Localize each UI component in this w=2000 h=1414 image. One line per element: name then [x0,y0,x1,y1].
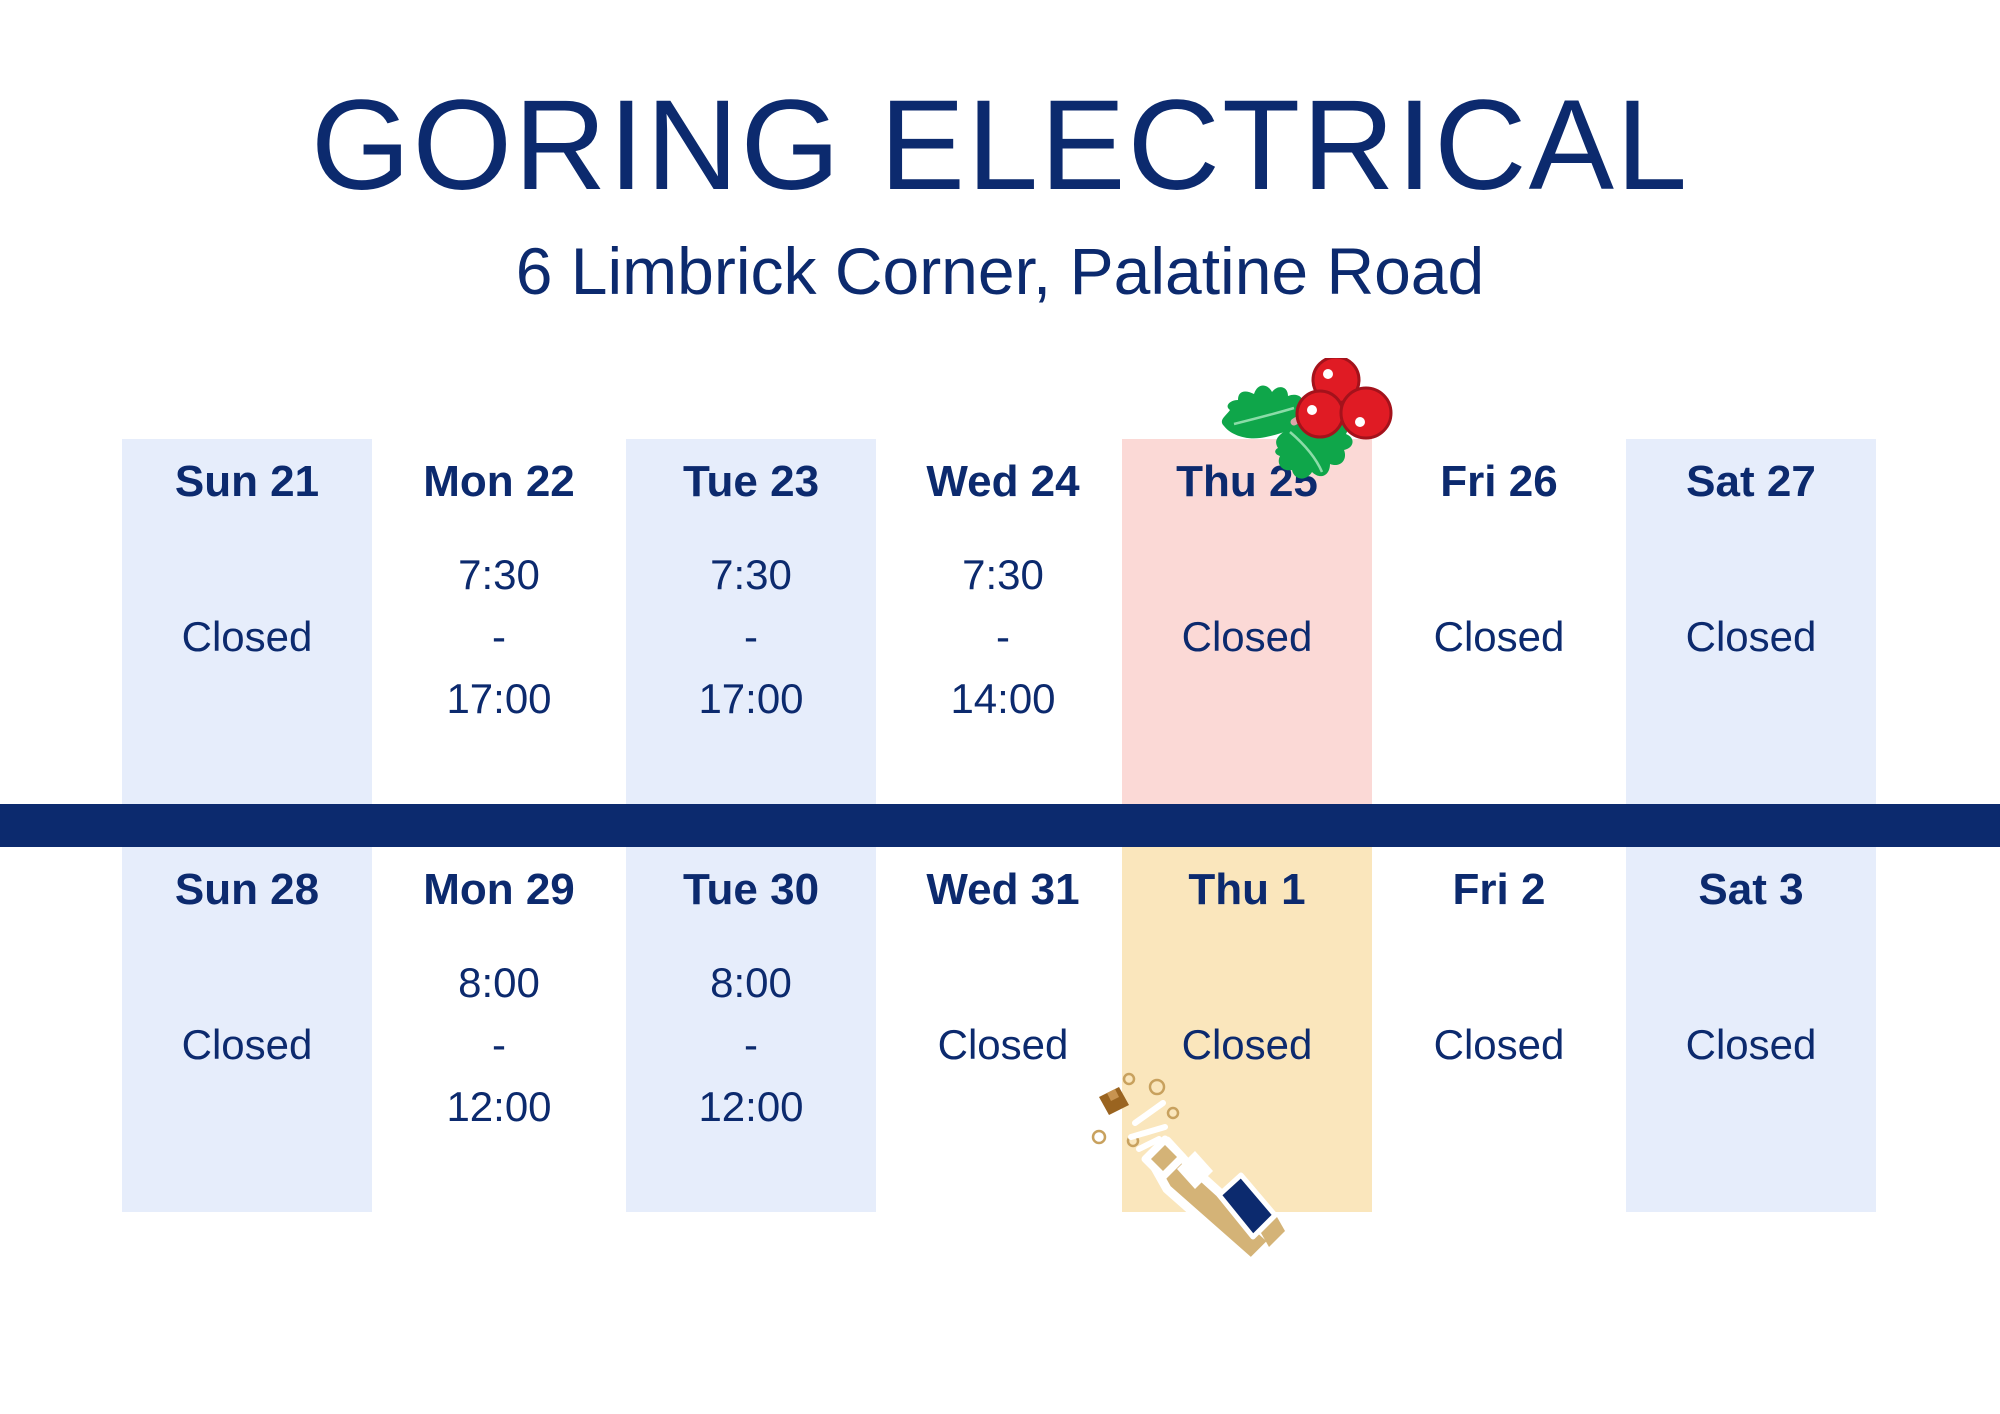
day-label-thu-1: Thu 1 [1122,865,1372,915]
hours-wed-31: Closed [878,1014,1128,1076]
hours-thu-25: Closed [1122,606,1372,668]
hours-line: 7:30 [626,544,876,606]
hours-line: 17:00 [626,668,876,730]
calendar-cell-sat-3[interactable]: Sat 3Closed [1626,847,1876,1212]
cell-content-sun-28: Sun 28Closed [122,847,372,1212]
calendar-cell-wed-24[interactable]: Wed 247:30-14:00 [878,439,1128,804]
hours-line: Closed [1374,1014,1624,1076]
hours-mon-22: 7:30-17:00 [374,544,624,730]
hours-line: Closed [878,1014,1128,1076]
calendar-cell-thu-1[interactable]: Thu 1Closed [1122,847,1372,1212]
calendar-cell-mon-22[interactable]: Mon 227:30-17:00 [374,439,624,804]
cell-content-sat-3: Sat 3Closed [1626,847,1876,1212]
calendar-cell-sun-21[interactable]: Sun 21Closed [122,439,372,804]
hours-line: 14:00 [878,668,1128,730]
hours-line: - [878,606,1128,668]
calendar-cell-thu-25[interactable]: Thu 25Closed [1122,439,1372,804]
hours-line: Closed [1122,1014,1372,1076]
hours-line: Closed [122,1014,372,1076]
hours-fri-26: Closed [1374,606,1624,668]
hours-thu-1: Closed [1122,1014,1372,1076]
hours-line: 8:00 [626,952,876,1014]
hours-line: 7:30 [374,544,624,606]
cell-content-sun-21: Sun 21Closed [122,439,372,804]
cell-content-thu-25: Thu 25Closed [1122,439,1372,804]
cell-content-tue-23: Tue 237:30-17:00 [626,439,876,804]
hours-line: Closed [1626,1014,1876,1076]
cell-content-mon-29: Mon 298:00-12:00 [374,847,624,1212]
cell-content-tue-30: Tue 308:00-12:00 [626,847,876,1212]
cell-content-mon-22: Mon 227:30-17:00 [374,439,624,804]
day-label-tue-30: Tue 30 [626,865,876,915]
day-label-sat-3: Sat 3 [1626,865,1876,915]
cell-content-sat-27: Sat 27Closed [1626,439,1876,804]
hours-line: Closed [1374,606,1624,668]
hours-fri-2: Closed [1374,1014,1624,1076]
day-label-fri-26: Fri 26 [1374,457,1624,507]
calendar-cell-mon-29[interactable]: Mon 298:00-12:00 [374,847,624,1212]
hours-line: 7:30 [878,544,1128,606]
day-label-sun-28: Sun 28 [122,865,372,915]
hours-sat-27: Closed [1626,606,1876,668]
day-label-mon-29: Mon 29 [374,865,624,915]
hours-line: 12:00 [626,1076,876,1138]
hours-line: - [626,1014,876,1076]
cell-content-fri-2: Fri 2Closed [1374,847,1624,1212]
calendar-cell-sat-27[interactable]: Sat 27Closed [1626,439,1876,804]
hours-line: 17:00 [374,668,624,730]
hours-tue-30: 8:00-12:00 [626,952,876,1138]
cell-content-wed-31: Wed 31Closed [878,847,1128,1212]
day-label-thu-25: Thu 25 [1122,457,1372,507]
day-label-wed-31: Wed 31 [878,865,1128,915]
hours-sun-28: Closed [122,1014,372,1076]
hours-sun-21: Closed [122,606,372,668]
cell-content-thu-1: Thu 1Closed [1122,847,1372,1212]
calendar-cell-tue-23[interactable]: Tue 237:30-17:00 [626,439,876,804]
day-label-tue-23: Tue 23 [626,457,876,507]
day-label-sun-21: Sun 21 [122,457,372,507]
cell-content-wed-24: Wed 247:30-14:00 [878,439,1128,804]
hours-sat-3: Closed [1626,1014,1876,1076]
calendar-cell-fri-2[interactable]: Fri 2Closed [1374,847,1624,1212]
week-divider [0,804,2000,847]
day-label-fri-2: Fri 2 [1374,865,1624,915]
calendar-cell-tue-30[interactable]: Tue 308:00-12:00 [626,847,876,1212]
hours-line: - [626,606,876,668]
day-label-mon-22: Mon 22 [374,457,624,507]
hours-line: - [374,606,624,668]
calendar-cell-fri-26[interactable]: Fri 26Closed [1374,439,1624,804]
hours-line: 8:00 [374,952,624,1014]
day-label-wed-24: Wed 24 [878,457,1128,507]
calendar-cell-wed-31[interactable]: Wed 31Closed [878,847,1128,1212]
cell-content-fri-26: Fri 26Closed [1374,439,1624,804]
hours-mon-29: 8:00-12:00 [374,952,624,1138]
hours-tue-23: 7:30-17:00 [626,544,876,730]
hours-wed-24: 7:30-14:00 [878,544,1128,730]
hours-line: Closed [1122,606,1372,668]
day-label-sat-27: Sat 27 [1626,457,1876,507]
calendar-cell-sun-28[interactable]: Sun 28Closed [122,847,372,1212]
hours-line: - [374,1014,624,1076]
opening-hours-poster: GORING ELECTRICAL 6 Limbrick Corner, Pal… [0,0,2000,1414]
hours-line: Closed [1626,606,1876,668]
hours-line: Closed [122,606,372,668]
calendar-grid: Sun 21ClosedMon 227:30-17:00Tue 237:30-1… [0,0,2000,1414]
hours-line: 12:00 [374,1076,624,1138]
